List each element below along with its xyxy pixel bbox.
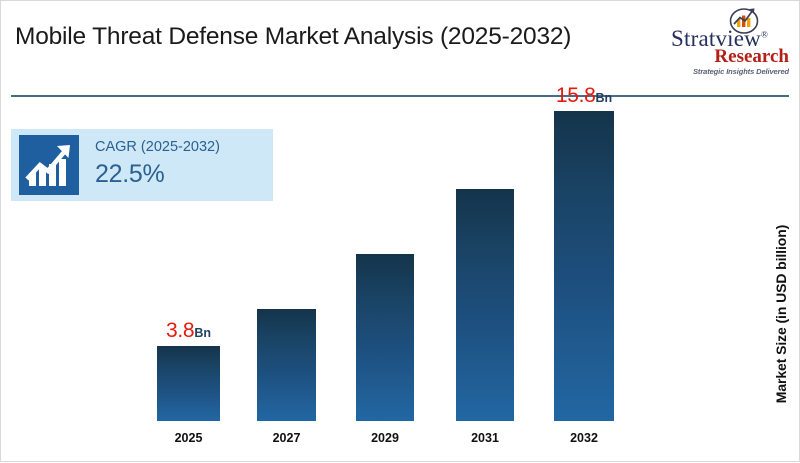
logo-sub-brand: Research (669, 47, 791, 66)
y-axis-title: Market Size (in USD billion) (769, 189, 793, 439)
bar-group-2029: 2029 (356, 111, 414, 421)
header-divider (11, 95, 789, 97)
registered-trademark-icon: ® (761, 29, 768, 39)
bar-2029[interactable]: 2029 (356, 254, 414, 421)
y-axis-title-label: Market Size (in USD billion) (773, 225, 789, 403)
bar-group-2032: 15.8Bn2032 (554, 111, 614, 421)
slide-canvas: Mobile Threat Defense Market Analysis (2… (0, 0, 800, 462)
chart-plot-area: 3.8Bn202520272029203115.8Bn2032 (1, 111, 661, 421)
x-axis-label-2031: 2031 (471, 431, 499, 445)
bar-2032[interactable]: 15.8Bn2032 (554, 111, 614, 421)
bar-group-2031: 2031 (456, 111, 514, 421)
bar-group-2025: 3.8Bn2025 (157, 111, 220, 421)
logo-tagline: Strategic Insights Delivered (669, 67, 791, 76)
x-axis-label-2025: 2025 (175, 431, 203, 445)
x-axis-label-2032: 2032 (570, 431, 598, 445)
header: Mobile Threat Defense Market Analysis (2… (1, 1, 799, 96)
page-title: Mobile Threat Defense Market Analysis (2… (15, 23, 571, 51)
bar-value-label-2025: 3.8Bn (166, 320, 211, 341)
bar-value-label-2032: 15.8Bn (556, 85, 612, 106)
x-axis-label-2027: 2027 (273, 431, 301, 445)
x-axis-label-2029: 2029 (371, 431, 399, 445)
brand-logo: Stratview® Research Strategic Insights D… (669, 5, 791, 79)
bar-group-2027: 2027 (257, 111, 316, 421)
bar-2025[interactable]: 3.8Bn2025 (157, 346, 220, 421)
bar-chart: 3.8Bn202520272029203115.8Bn2032 (1, 111, 661, 463)
bar-2031[interactable]: 2031 (456, 189, 514, 421)
bar-2027[interactable]: 2027 (257, 309, 316, 421)
